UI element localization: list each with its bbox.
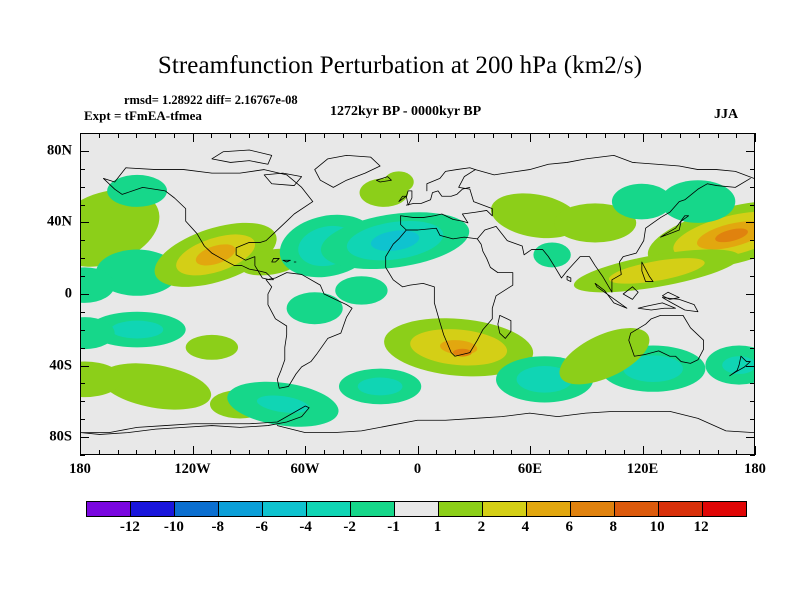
x-tick-top xyxy=(586,133,587,138)
x-tick xyxy=(661,450,662,455)
y-tick-right xyxy=(750,169,755,170)
y-tick xyxy=(80,348,85,349)
coastline-path xyxy=(376,177,391,182)
y-tick xyxy=(80,383,85,384)
x-tick xyxy=(324,450,325,455)
x-tick xyxy=(136,450,137,455)
y-tick-right xyxy=(750,312,755,313)
x-tick-top xyxy=(568,133,569,138)
x-tick xyxy=(530,446,531,455)
x-tick xyxy=(568,450,569,455)
colorbar-tick-label: -2 xyxy=(343,519,356,536)
colorbar-swatch xyxy=(526,502,570,516)
x-tick-top xyxy=(118,133,119,138)
x-tick xyxy=(343,450,344,455)
y-tick-right xyxy=(750,205,755,206)
coastline-path xyxy=(272,258,279,262)
y-tick xyxy=(80,222,89,223)
y-tick xyxy=(80,419,85,420)
x-tick-top xyxy=(99,133,100,138)
colorbar-swatch xyxy=(482,502,526,516)
x-axis-label: 180 xyxy=(744,461,766,478)
y-axis-label: 0 xyxy=(65,286,72,303)
y-tick-right xyxy=(750,330,755,331)
period-label: 1272kyr BP - 0000kyr BP xyxy=(330,104,481,120)
y-tick-right xyxy=(746,151,755,152)
x-tick xyxy=(699,450,700,455)
x-tick-top xyxy=(718,133,719,138)
x-tick-top xyxy=(736,133,737,138)
x-tick-top xyxy=(455,133,456,138)
y-tick-right xyxy=(750,401,755,402)
x-axis-label: 60W xyxy=(291,461,320,478)
coastline-path xyxy=(638,303,675,310)
y-tick xyxy=(80,312,85,313)
x-tick-top xyxy=(174,133,175,138)
x-tick-top xyxy=(624,133,625,138)
x-tick xyxy=(586,450,587,455)
coastline-path xyxy=(266,273,352,389)
colorbar-swatch xyxy=(614,502,658,516)
colorbar-swatch xyxy=(350,502,394,516)
coastline-path xyxy=(315,155,380,187)
y-tick-right xyxy=(750,258,755,259)
x-tick xyxy=(418,446,419,455)
x-tick-top xyxy=(305,133,306,142)
y-axis-label: 40S xyxy=(49,357,72,374)
colorbar-tick-label: 2 xyxy=(478,519,486,536)
coastline-path xyxy=(629,315,704,363)
x-tick xyxy=(211,450,212,455)
x-tick-top xyxy=(361,133,362,138)
y-tick-right xyxy=(750,419,755,420)
x-axis-label: 180 xyxy=(69,461,91,478)
y-tick xyxy=(80,205,85,206)
y-axis-label: 80N xyxy=(47,142,72,159)
x-tick xyxy=(230,450,231,455)
x-tick-top xyxy=(680,133,681,138)
colorbar-swatch xyxy=(130,502,174,516)
y-tick xyxy=(80,169,85,170)
y-tick xyxy=(80,258,85,259)
coastline-path xyxy=(595,283,627,308)
x-tick-top xyxy=(268,133,269,138)
colorbar-tick-label: -10 xyxy=(164,519,184,536)
y-tick-right xyxy=(746,294,755,295)
x-tick xyxy=(455,450,456,455)
x-axis-label: 120E xyxy=(627,461,658,478)
y-tick-right xyxy=(750,276,755,277)
x-tick xyxy=(118,450,119,455)
map-plot-area xyxy=(80,133,755,455)
coastline-path xyxy=(283,260,290,262)
y-tick xyxy=(80,276,85,277)
x-tick xyxy=(755,446,756,455)
y-tick xyxy=(80,133,85,134)
colorbar-tick-label: -6 xyxy=(255,519,268,536)
coastline-path xyxy=(399,196,406,201)
page-title: Streamfunction Perturbation at 200 hPa (… xyxy=(0,52,800,80)
colorbar-swatch xyxy=(438,502,482,516)
colorbar-swatch xyxy=(87,502,130,516)
season-label: JJA xyxy=(714,107,738,123)
y-tick xyxy=(80,401,85,402)
y-axis-label: 80S xyxy=(49,429,72,446)
y-axis-label: 40N xyxy=(47,214,72,231)
colorbar-tick-label: 1 xyxy=(434,519,442,536)
x-tick-top xyxy=(661,133,662,138)
x-tick xyxy=(605,450,606,455)
x-tick xyxy=(361,450,362,455)
colorbar-tick-label: 4 xyxy=(522,519,530,536)
coastline-path xyxy=(406,191,412,205)
x-tick xyxy=(268,450,269,455)
x-tick xyxy=(99,450,100,455)
x-tick-top xyxy=(399,133,400,138)
x-tick-top xyxy=(80,133,81,142)
x-tick xyxy=(549,450,550,455)
y-tick xyxy=(80,455,85,456)
x-axis-label: 0 xyxy=(414,461,421,478)
colorbar-swatch xyxy=(394,502,438,516)
x-tick xyxy=(643,446,644,455)
x-tick-top xyxy=(211,133,212,138)
colorbar-tick-label: -8 xyxy=(212,519,225,536)
coastline-path xyxy=(401,155,754,222)
x-tick-top xyxy=(530,133,531,142)
x-tick xyxy=(624,450,625,455)
coastline-path xyxy=(386,228,513,356)
colorbar-tick-label: 6 xyxy=(566,519,574,536)
x-tick xyxy=(380,450,381,455)
colorbar-tick-label: 8 xyxy=(609,519,617,536)
coastline-path xyxy=(81,406,309,434)
x-tick-top xyxy=(493,133,494,138)
colorbar xyxy=(86,501,747,517)
coastline-path xyxy=(642,262,653,282)
coastline-path xyxy=(498,315,511,338)
x-axis-label: 60E xyxy=(518,461,542,478)
colorbar-swatch xyxy=(702,502,746,516)
x-tick-top xyxy=(193,133,194,142)
y-tick-right xyxy=(750,383,755,384)
coastline-path xyxy=(212,150,272,164)
coastlines xyxy=(81,134,754,454)
x-tick xyxy=(736,450,737,455)
x-tick xyxy=(493,450,494,455)
x-tick-top xyxy=(249,133,250,138)
x-tick xyxy=(155,450,156,455)
x-tick xyxy=(174,450,175,455)
x-tick xyxy=(436,450,437,455)
colorbar-tick-label: -4 xyxy=(299,519,312,536)
y-tick-right xyxy=(750,348,755,349)
colorbar-swatch xyxy=(306,502,350,516)
x-tick xyxy=(399,450,400,455)
y-tick xyxy=(80,187,85,188)
x-tick-top xyxy=(549,133,550,138)
colorbar-tick-label: 12 xyxy=(694,519,709,536)
x-tick-top xyxy=(643,133,644,142)
x-tick-top xyxy=(136,133,137,138)
experiment-label: Expt = tFmEA-tfmea xyxy=(84,108,202,124)
colorbar-swatch xyxy=(262,502,306,516)
chart-page: Streamfunction Perturbation at 200 hPa (… xyxy=(0,0,800,600)
x-tick-top xyxy=(699,133,700,138)
x-tick xyxy=(193,446,194,455)
colorbar-tick-label: 10 xyxy=(650,519,665,536)
y-tick-right xyxy=(746,366,755,367)
x-tick-top xyxy=(380,133,381,138)
x-tick-top xyxy=(230,133,231,138)
coastline-path xyxy=(477,178,750,292)
colorbar-swatch xyxy=(658,502,702,516)
colorbar-tick-label: -1 xyxy=(387,519,400,536)
y-tick xyxy=(80,151,89,152)
x-tick xyxy=(474,450,475,455)
x-tick xyxy=(511,450,512,455)
x-tick xyxy=(249,450,250,455)
x-tick xyxy=(680,450,681,455)
colorbar-tick-label: -12 xyxy=(120,519,140,536)
x-tick xyxy=(286,450,287,455)
x-tick-top xyxy=(511,133,512,138)
colorbar-swatch xyxy=(174,502,218,516)
coastline-path xyxy=(406,187,470,205)
coastline-path xyxy=(661,216,689,237)
x-tick-top xyxy=(474,133,475,138)
y-tick xyxy=(80,294,89,295)
x-tick-top xyxy=(436,133,437,138)
coastline-path xyxy=(264,173,301,185)
x-tick xyxy=(80,446,81,455)
x-tick-top xyxy=(343,133,344,138)
coastline-path xyxy=(623,287,638,300)
x-tick xyxy=(305,446,306,455)
y-tick-right xyxy=(746,437,755,438)
y-tick-right xyxy=(750,187,755,188)
y-tick xyxy=(80,366,89,367)
colorbar-swatch xyxy=(218,502,262,516)
y-tick xyxy=(80,330,85,331)
x-tick-top xyxy=(605,133,606,138)
y-tick xyxy=(80,240,85,241)
rmsd-annotation: rmsd= 1.28922 diff= 2.16767e-08 xyxy=(124,93,298,108)
x-axis-label: 120W xyxy=(174,461,210,478)
x-tick-top xyxy=(286,133,287,138)
y-tick-right xyxy=(750,240,755,241)
x-tick-top xyxy=(155,133,156,138)
y-tick xyxy=(80,437,89,438)
y-tick-right xyxy=(750,455,755,456)
x-tick-top xyxy=(755,133,756,142)
x-tick xyxy=(718,450,719,455)
colorbar-swatch xyxy=(570,502,614,516)
y-tick-right xyxy=(750,133,755,134)
y-tick-right xyxy=(746,222,755,223)
x-tick-top xyxy=(324,133,325,138)
coastline-path xyxy=(277,411,754,432)
coastline-path xyxy=(567,276,571,281)
x-tick-top xyxy=(418,133,419,142)
